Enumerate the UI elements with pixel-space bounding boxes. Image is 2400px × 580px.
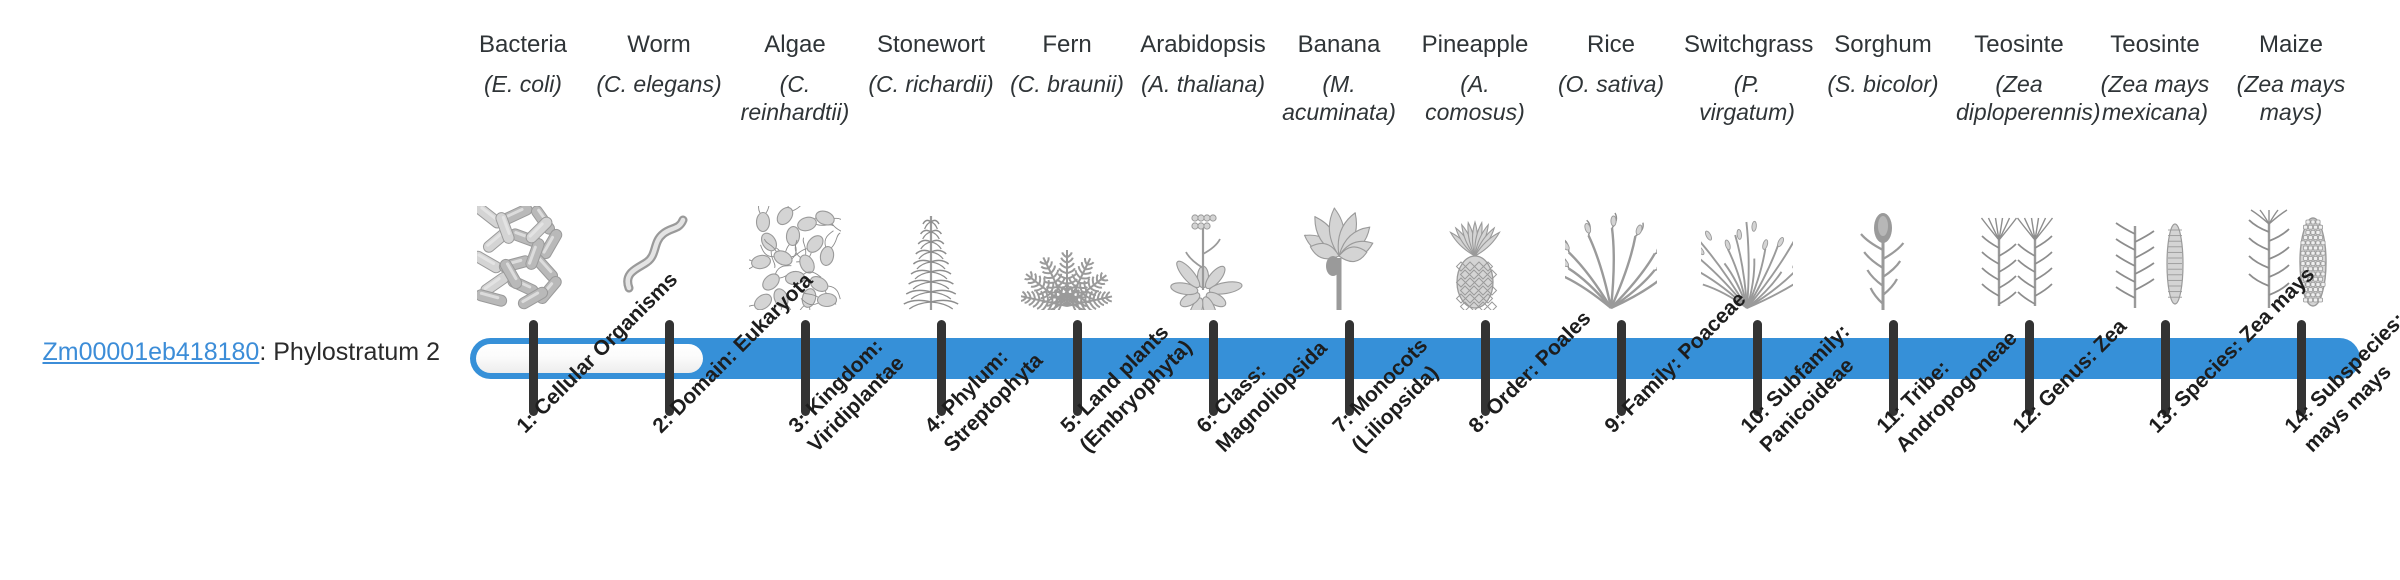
species-common-name: Stonewort bbox=[868, 30, 994, 64]
species-scientific-name: (A. comosus) bbox=[1412, 70, 1538, 130]
species-common-name: Sorghum bbox=[1820, 30, 1946, 64]
species-scientific-name: (O. sativa) bbox=[1548, 70, 1674, 130]
species-scientific-name: (A. thaliana) bbox=[1140, 70, 1266, 130]
species-column: Teosinte(Zea diploperennis) bbox=[1956, 30, 2082, 310]
species-common-name: Teosinte bbox=[1956, 30, 2082, 64]
species-common-name: Algae bbox=[732, 30, 858, 64]
species-common-name: Arabidopsis bbox=[1140, 30, 1266, 64]
species-column: Switchgrass(P. virgatum) bbox=[1684, 30, 1810, 310]
species-scientific-name: (C. elegans) bbox=[596, 70, 722, 130]
species-scientific-name: (P. virgatum) bbox=[1684, 70, 1810, 130]
species-column: Rice(O. sativa) bbox=[1548, 30, 1674, 310]
species-scientific-name: (Zea mays mays) bbox=[2228, 70, 2354, 130]
species-column: Worm(C. elegans) bbox=[596, 30, 722, 310]
species-common-name: Bacteria bbox=[460, 30, 586, 64]
species-common-name: Fern bbox=[1004, 30, 1130, 64]
phylostratum-axis-labels: 1: Cellular Organisms2: Domain: Eukaryot… bbox=[0, 420, 2400, 580]
species-column: Banana(M. acuminata) bbox=[1276, 30, 1402, 310]
species-scientific-name: (Zea diploperennis) bbox=[1956, 70, 2082, 130]
species-scientific-name: (C. reinhardtii) bbox=[732, 70, 858, 130]
species-column: Sorghum(S. bicolor) bbox=[1820, 30, 1946, 310]
species-scientific-name: (S. bicolor) bbox=[1820, 70, 1946, 130]
species-scientific-name: (E. coli) bbox=[460, 70, 586, 130]
species-header-strip: Bacteria(E. coli) bbox=[460, 30, 2390, 310]
species-common-name: Pineapple bbox=[1412, 30, 1538, 64]
species-common-name: Switchgrass bbox=[1684, 30, 1810, 64]
species-scientific-name: (M. acuminata) bbox=[1276, 70, 1402, 130]
species-scientific-name: (Zea mays mexicana) bbox=[2092, 70, 2218, 130]
species-common-name: Rice bbox=[1548, 30, 1674, 64]
species-column: Algae(C. reinhardtii) bbox=[732, 30, 858, 310]
species-column: Fern(C. braunii) bbox=[1004, 30, 1130, 310]
bacteria-icon bbox=[460, 200, 586, 310]
species-column: Teosinte(Zea mays mexicana) bbox=[2092, 30, 2218, 310]
species-column: Stonewort(C. richardii) bbox=[868, 30, 994, 310]
species-column: Pineapple(A. comosus) bbox=[1412, 30, 1538, 310]
species-column: Bacteria(E. coli) bbox=[460, 30, 586, 310]
species-common-name: Teosinte bbox=[2092, 30, 2218, 64]
species-common-name: Worm bbox=[596, 30, 722, 64]
species-column: Arabidopsis(A. thaliana) bbox=[1140, 30, 1266, 310]
species-scientific-name: (C. richardii) bbox=[868, 70, 994, 130]
species-scientific-name: (C. braunii) bbox=[1004, 70, 1130, 130]
species-common-name: Banana bbox=[1276, 30, 1402, 64]
species-column: Maize(Zea mays mays) bbox=[2228, 30, 2354, 310]
species-common-name: Maize bbox=[2228, 30, 2354, 64]
